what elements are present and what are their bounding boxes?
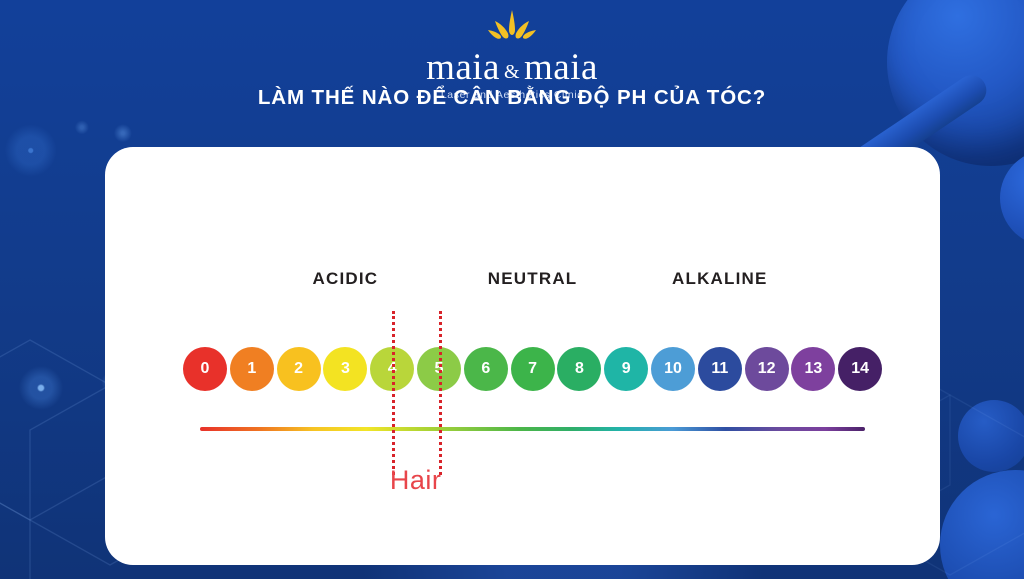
logo-ampersand: & — [504, 62, 520, 82]
hair-annotation-label: Hair — [390, 465, 442, 496]
ph-circle-1: 1 — [230, 347, 274, 391]
ph-circle-3: 3 — [323, 347, 367, 391]
ph-scale: ACIDICNEUTRALALKALINE 012345678910111213… — [105, 147, 940, 565]
ph-circle-2: 2 — [277, 347, 321, 391]
ph-circle-12: 12 — [745, 347, 789, 391]
logo-word-right: maia — [524, 49, 598, 86]
hair-range-line-start — [392, 311, 395, 475]
ph-circle-0: 0 — [183, 347, 227, 391]
crown-ornament-icon — [484, 8, 540, 48]
ph-circle-11: 11 — [698, 347, 742, 391]
ph-circle-8: 8 — [557, 347, 601, 391]
ph-circle-14: 14 — [838, 347, 882, 391]
ph-circle-10: 10 — [651, 347, 695, 391]
ph-circle-9: 9 — [604, 347, 648, 391]
poster-canvas: maia & maia Laser and Aesthetics Clinic … — [0, 0, 1024, 579]
decorative-sphere-bottom-icon — [940, 470, 1024, 579]
logo-wordmark: maia & maia — [0, 49, 1024, 86]
hair-range-line-end — [439, 311, 442, 475]
decorative-sphere-right-icon — [958, 400, 1024, 472]
page-title: LÀM THẾ NÀO ĐỂ CÂN BẰNG ĐỘ PH CỦA TÓC? — [0, 86, 1024, 110]
ph-circle-13: 13 — [791, 347, 835, 391]
logo-word-left: maia — [426, 49, 500, 86]
ph-value-circles: 01234567891011121314 — [105, 147, 940, 565]
decorative-sphere-small-icon — [1000, 150, 1024, 246]
ph-circle-6: 6 — [464, 347, 508, 391]
ph-circle-7: 7 — [511, 347, 555, 391]
ph-scale-card: ACIDICNEUTRALALKALINE 012345678910111213… — [105, 147, 940, 565]
